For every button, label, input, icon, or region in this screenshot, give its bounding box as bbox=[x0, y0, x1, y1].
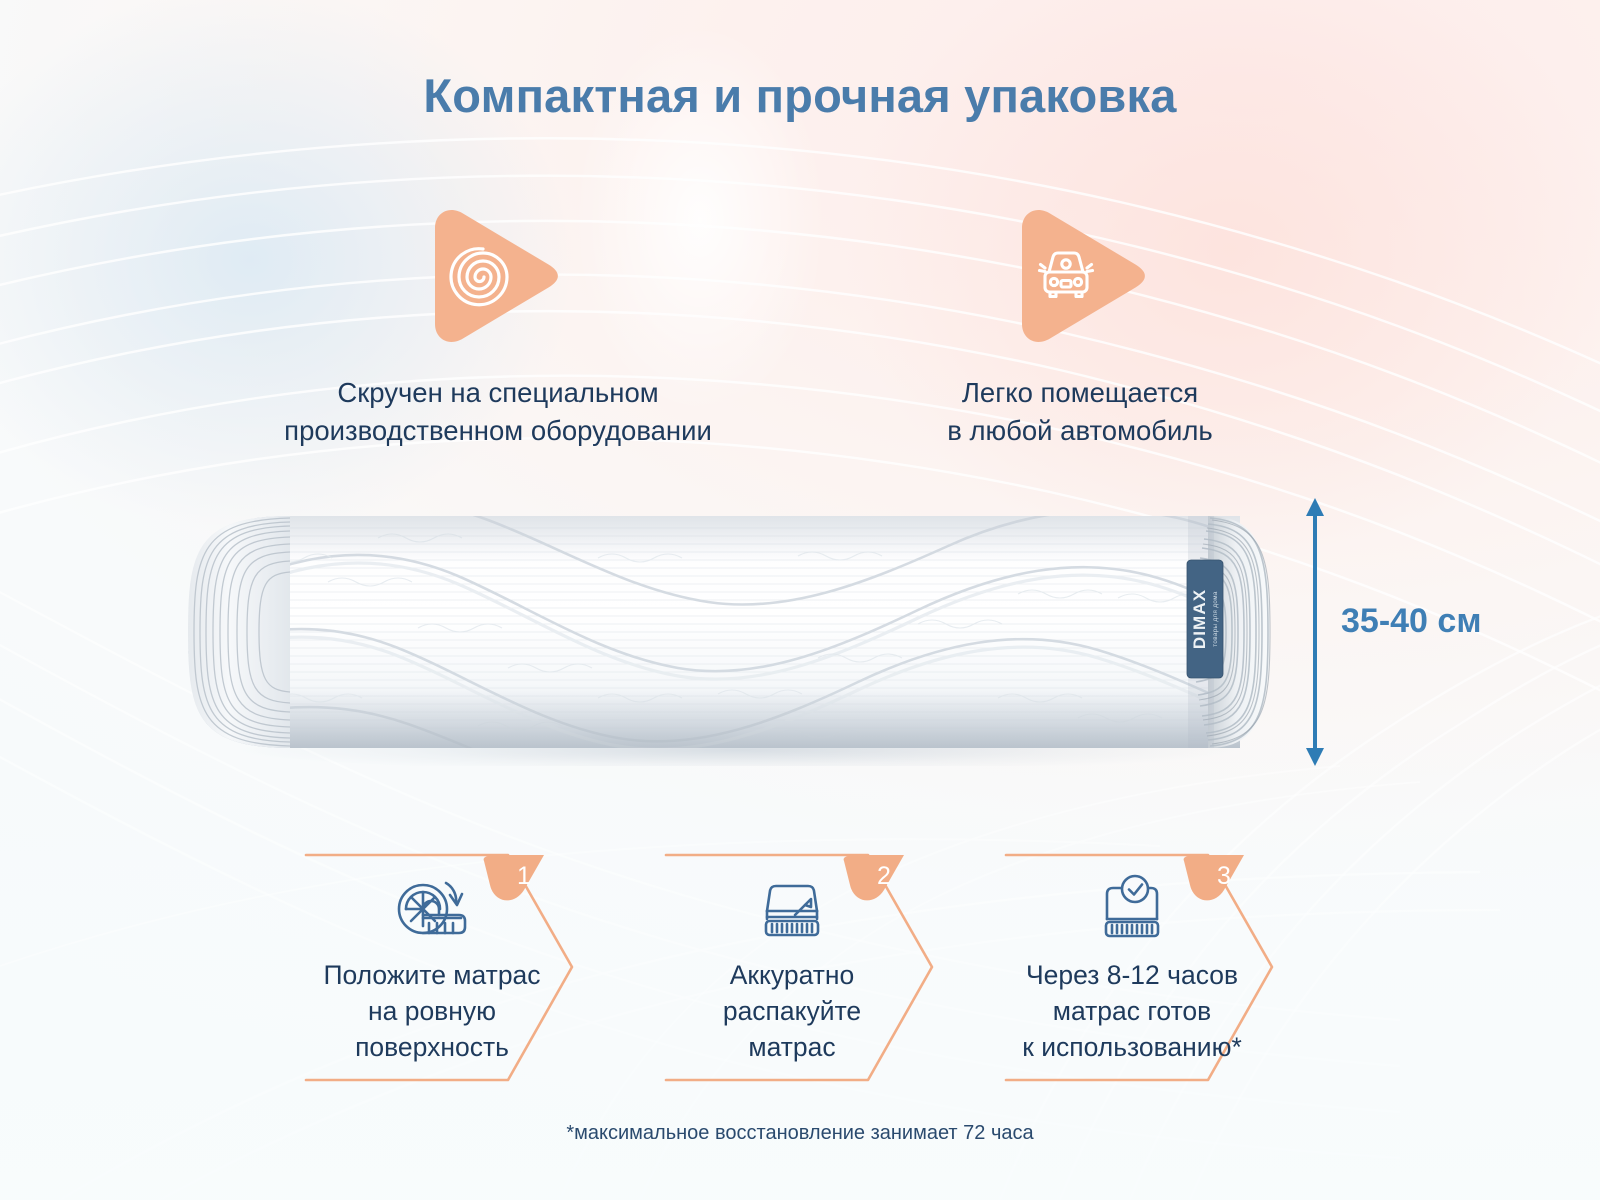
mattress-check-icon bbox=[1093, 871, 1171, 949]
step-card-1[interactable]: 1 Положите матрас на ровную поверхность bbox=[298, 845, 643, 1090]
feature-caption: Скручен на специальном производственном … bbox=[228, 374, 768, 449]
step-text: Положите матрас на ровную поверхность bbox=[298, 958, 566, 1065]
step-card-2[interactable]: 2 Аккуратно распакуйте матрас bbox=[658, 845, 1003, 1090]
infographic-canvas: Компактная и прочная упаковка Скручен на… bbox=[0, 0, 1600, 1200]
unwrap-mattress-icon bbox=[753, 871, 831, 949]
dimension-label: 35-40 см bbox=[1341, 602, 1481, 641]
svg-text:товары для дома: товары для дома bbox=[1212, 591, 1219, 647]
rolled-mattress-photo: DIMAX товары для дома bbox=[178, 498, 1278, 766]
step-number: 3 bbox=[1197, 849, 1251, 903]
feature-caption: Легко помещается в любой автомобиль bbox=[905, 374, 1255, 449]
step-text: Через 8-12 часов матрас готов к использо… bbox=[998, 958, 1266, 1065]
footnote: *максимальное восстановление занимает 72… bbox=[0, 1122, 1600, 1145]
step-card-3[interactable]: 3 Через 8-12 часов матрас готов к исполь… bbox=[998, 845, 1343, 1090]
feature-block-rolled: Скручен на специальном производственном … bbox=[228, 200, 768, 449]
step-number: 1 bbox=[497, 849, 551, 903]
steps-row: 1 Положите матрас на ровную поверхность bbox=[298, 845, 1308, 1090]
spiral-roll-icon bbox=[441, 238, 517, 314]
car-front-icon bbox=[1028, 238, 1104, 314]
brand-tag: DIMAX товары для дома bbox=[1187, 560, 1223, 678]
feature-icon-badge bbox=[1002, 200, 1152, 352]
step-number: 2 bbox=[857, 849, 911, 903]
page-title: Компактная и прочная упаковка bbox=[0, 68, 1600, 123]
feature-icon-badge bbox=[415, 200, 565, 352]
double-arrow-vertical-icon bbox=[1285, 496, 1345, 768]
dimension-annotation: 35-40 см bbox=[1285, 496, 1575, 768]
svg-text:DIMAX: DIMAX bbox=[1190, 589, 1209, 649]
feature-block-car: Легко помещается в любой автомобиль bbox=[905, 200, 1255, 449]
mattress-roll-illustration: DIMAX товары для дома bbox=[178, 498, 1278, 766]
rolled-mattress-icon bbox=[393, 871, 471, 949]
step-text: Аккуратно распакуйте матрас bbox=[658, 958, 926, 1065]
